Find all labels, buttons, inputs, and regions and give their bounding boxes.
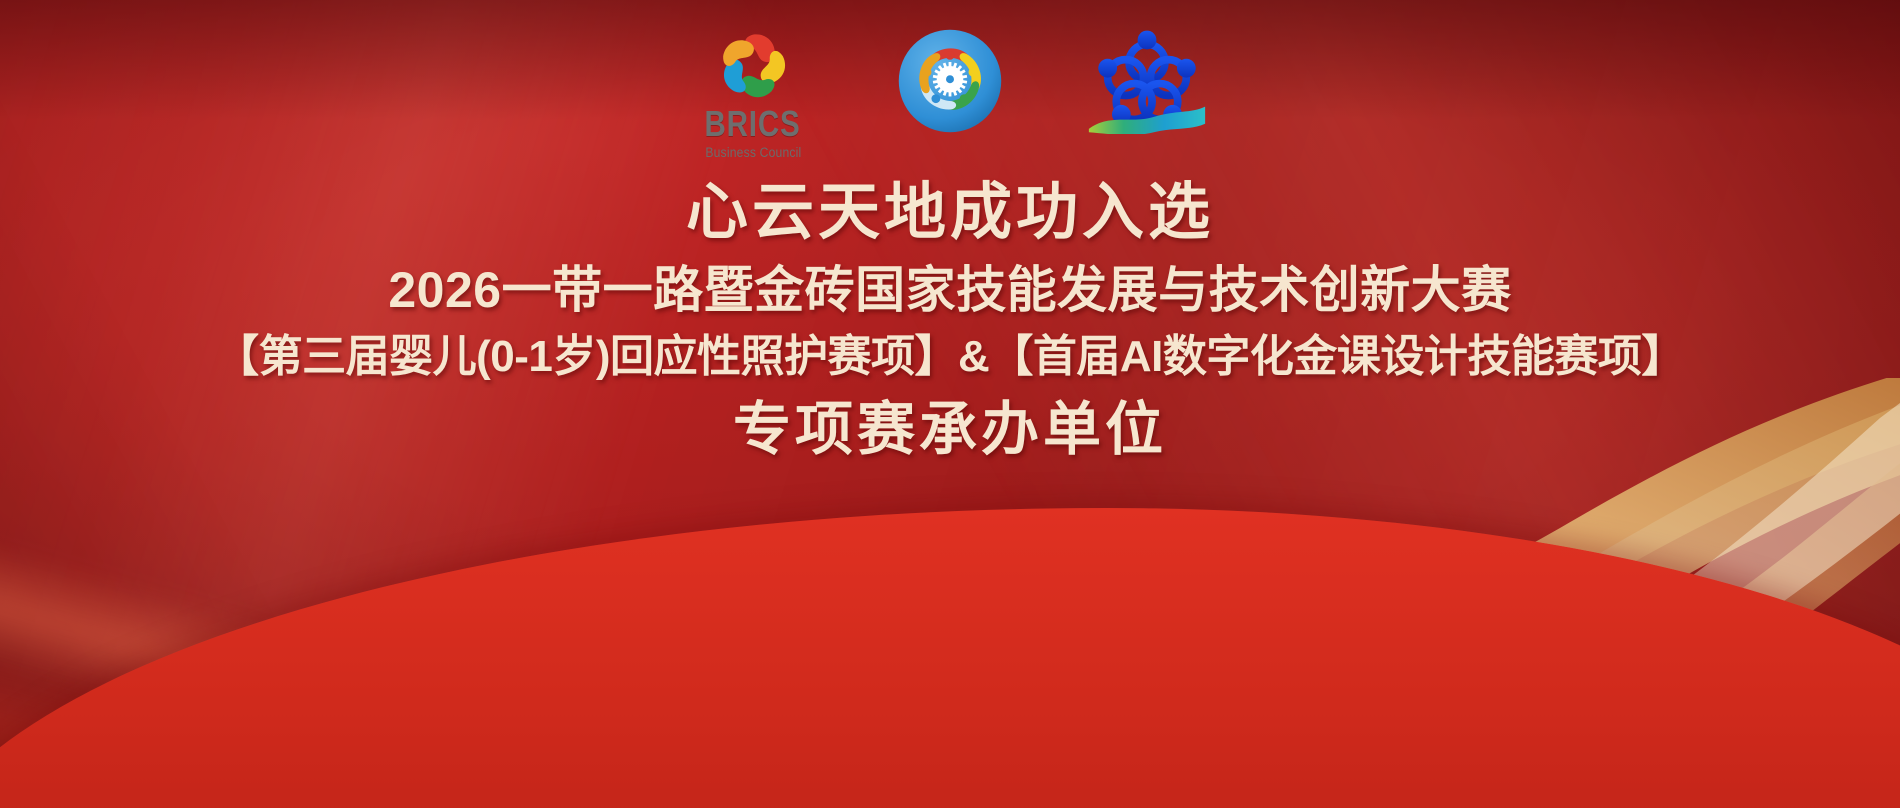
brics-wordmark: BRICS — [705, 106, 801, 142]
brics-subtitle: Business Council — [705, 145, 801, 160]
headline-line-1: 心云天地成功入选 — [0, 176, 1900, 249]
skills-competition-emblem — [897, 28, 1003, 139]
brics-business-council-logo: BRICS Business Council — [693, 28, 813, 160]
headline-block: 心云天地成功入选 2026一带一路暨金砖国家技能发展与技术创新大赛 【第三届婴儿… — [0, 176, 1900, 465]
headline-line-2: 2026一带一路暨金砖国家技能发展与技术创新大赛 — [0, 259, 1900, 321]
blue-interlocking-rings-wave-icon — [1087, 28, 1207, 134]
poster-banner: BRICS Business Council — [0, 0, 1900, 808]
belt-and-road-emblem — [1087, 28, 1207, 139]
blue-circle-star-gear-icon — [897, 28, 1003, 134]
brics-pinwheel-star-icon — [711, 28, 795, 104]
headline-line-4: 专项赛承办单位 — [0, 395, 1900, 465]
logo-row: BRICS Business Council — [0, 28, 1900, 168]
headline-line-3: 【第三届婴儿(0-1岁)回应性照护赛项】&【首届AI数字化金课设计技能赛项】 — [0, 329, 1900, 385]
